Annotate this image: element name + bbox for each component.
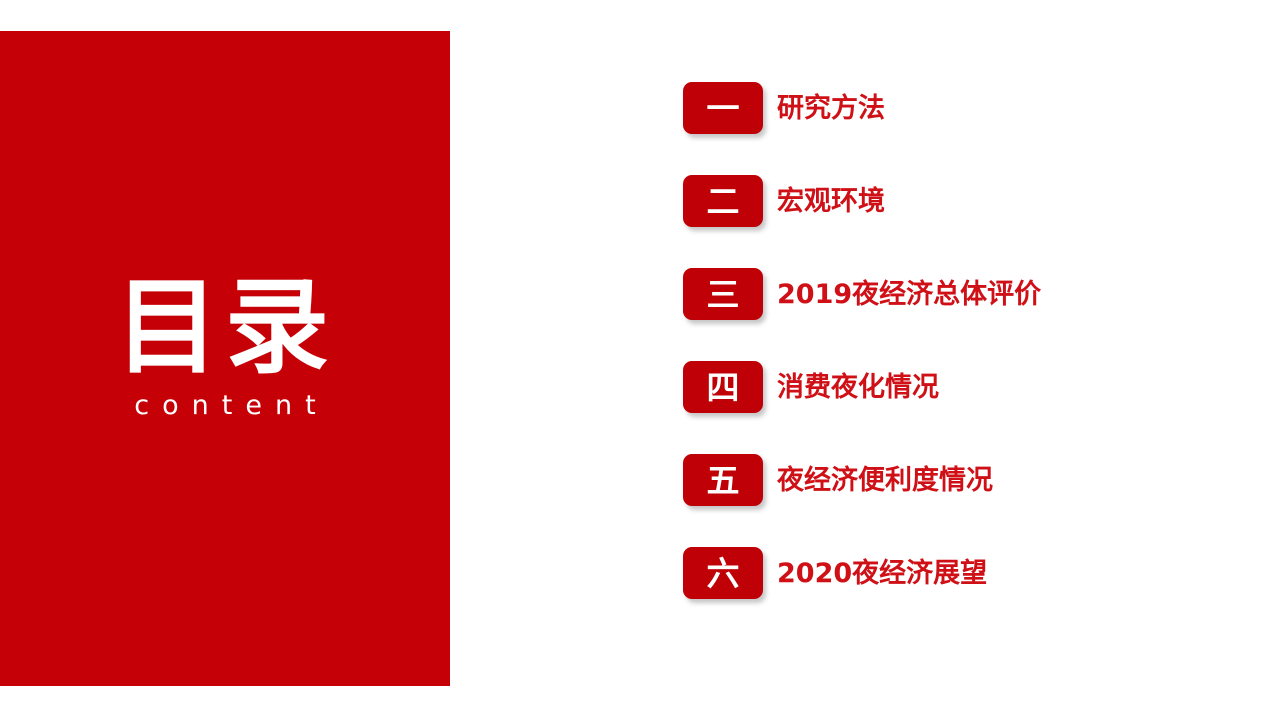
toc-number-badge-1[interactable]: 一 (683, 82, 763, 134)
toc-item-2[interactable]: 二 宏观环境 (683, 173, 1243, 229)
toc-item-6[interactable]: 六 2020夜经济展望 (683, 545, 1243, 601)
toc-item-5[interactable]: 五 夜经济便利度情况 (683, 452, 1243, 508)
toc-number-badge-2[interactable]: 二 (683, 175, 763, 227)
toc-label-6[interactable]: 2020夜经济展望 (777, 560, 987, 587)
toc-label-1[interactable]: 研究方法 (777, 95, 885, 122)
title-block: 目录 content (115, 274, 335, 421)
toc-label-2[interactable]: 宏观环境 (777, 188, 885, 215)
toc-item-1[interactable]: 一 研究方法 (683, 80, 1243, 136)
toc-item-4[interactable]: 四 消费夜化情况 (683, 359, 1243, 415)
toc-label-5[interactable]: 夜经济便利度情况 (777, 467, 993, 494)
table-of-contents-list: 一 研究方法 二 宏观环境 三 2019夜经济总体评价 四 消费夜化情况 五 夜… (683, 80, 1243, 638)
toc-number-badge-4[interactable]: 四 (683, 361, 763, 413)
toc-number-badge-6[interactable]: 六 (683, 547, 763, 599)
toc-number-badge-3[interactable]: 三 (683, 268, 763, 320)
page-title-cn: 目录 (115, 274, 335, 380)
title-panel: 目录 content (0, 31, 450, 686)
slide-canvas: 目录 content 一 研究方法 二 宏观环境 三 2019夜经济总体评价 四… (0, 0, 1279, 719)
toc-label-4[interactable]: 消费夜化情况 (777, 374, 939, 401)
toc-label-3[interactable]: 2019夜经济总体评价 (777, 281, 1041, 308)
toc-item-3[interactable]: 三 2019夜经济总体评价 (683, 266, 1243, 322)
page-title-en: content (115, 390, 335, 421)
toc-number-badge-5[interactable]: 五 (683, 454, 763, 506)
